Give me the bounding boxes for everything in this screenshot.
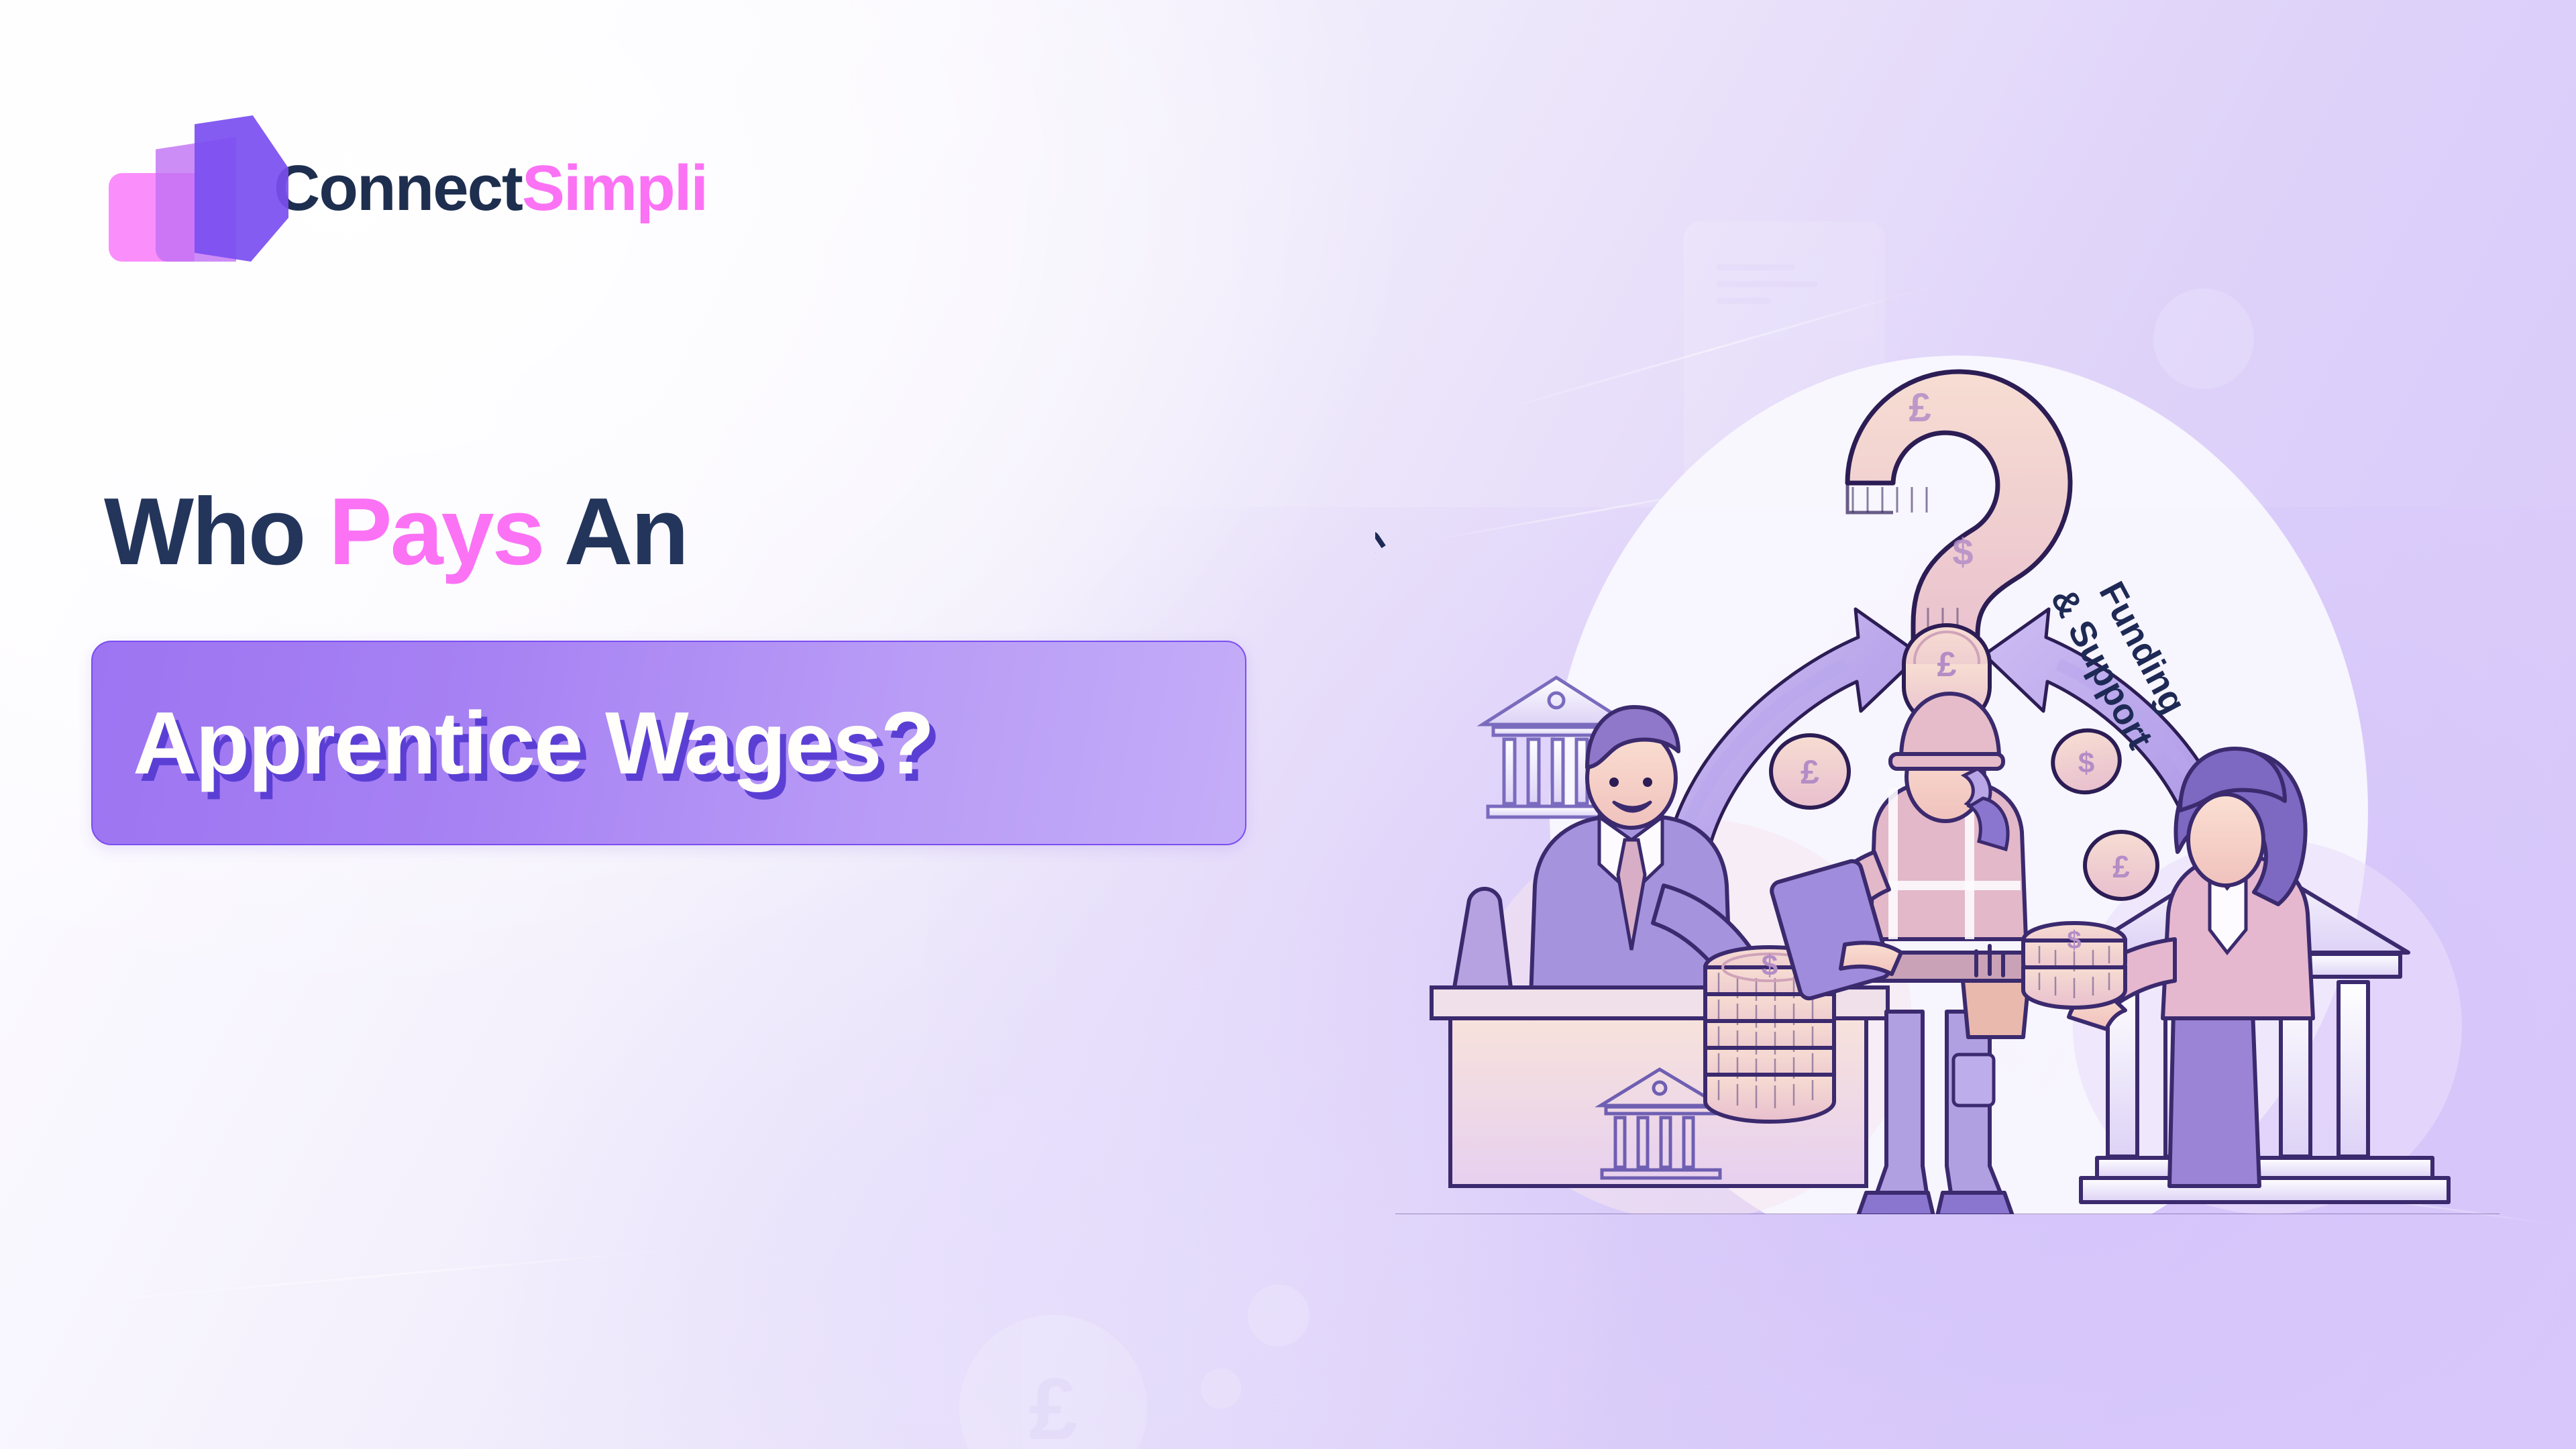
- svg-text:$: $: [1762, 949, 1778, 982]
- headline-part-1: Who: [104, 478, 329, 585]
- logo-word-connect: Connect: [274, 152, 522, 224]
- logo-wordmark: ConnectSimpli: [274, 156, 707, 221]
- logo-mark-icon: [101, 115, 254, 262]
- logo-shape-purple: [195, 115, 288, 262]
- brand-logo[interactable]: ConnectSimpli: [101, 115, 707, 262]
- svg-text:£: £: [1937, 645, 1957, 684]
- headline-highlight: Pays: [329, 478, 543, 585]
- headline-part-2: An: [543, 478, 687, 585]
- svg-text:$: $: [1952, 531, 1973, 573]
- svg-text:$: $: [2067, 926, 2081, 955]
- label-employer-contribution: Employer Contribution: [1375, 517, 1392, 672]
- watermark-dot-tiny: [1201, 1368, 1241, 1409]
- title-badge: Apprentice Wages?: [91, 641, 1246, 845]
- svg-text:$: $: [2078, 747, 2094, 780]
- svg-text:£: £: [1909, 385, 1931, 430]
- coin-pound-left-float: £: [1771, 735, 1849, 808]
- svg-text:£: £: [1801, 753, 1819, 791]
- hero-illustration: £ $ £ £ $ £: [1375, 262, 2529, 1214]
- watermark-dot-small: [1248, 1285, 1309, 1346]
- svg-text:£: £: [2112, 849, 2130, 884]
- page-title: Who Pays An: [104, 482, 687, 582]
- label-employer-line2: Contribution: [1375, 517, 1392, 672]
- coin-stack-held: $: [2023, 923, 2125, 1008]
- title-badge-label: Apprentice Wages?: [133, 692, 933, 794]
- logo-word-simpli: Simpli: [522, 152, 707, 224]
- coin-pound-right-float: £: [2085, 832, 2157, 899]
